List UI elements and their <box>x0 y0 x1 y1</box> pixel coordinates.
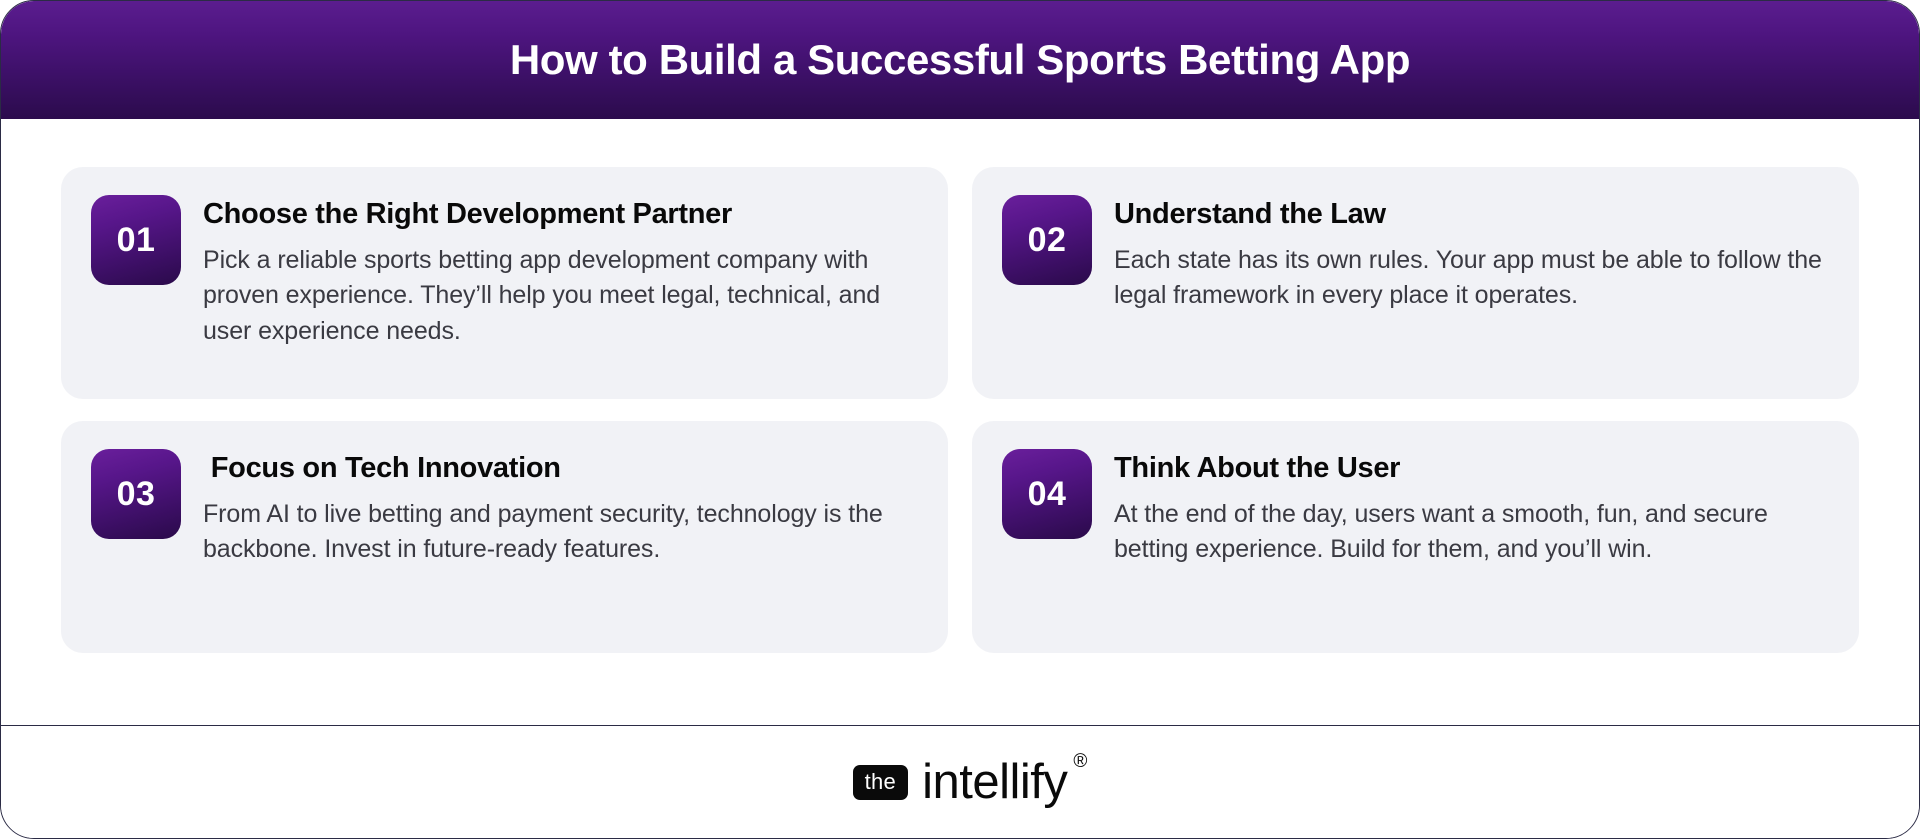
step-number-badge: 03 <box>91 449 181 539</box>
step-card-text: Understand the Law Each state has its ow… <box>1114 195 1829 314</box>
step-card-title: Understand the Law <box>1114 197 1829 232</box>
step-card-description: Pick a reliable sports betting app devel… <box>203 243 918 350</box>
step-number-badge: 02 <box>1002 195 1092 285</box>
step-card-02: 02 Understand the Law Each state has its… <box>972 167 1859 399</box>
step-card-description: Each state has its own rules. Your app m… <box>1114 243 1829 314</box>
logo-the-badge: the <box>853 765 908 800</box>
logo-wordmark: intellify <box>922 755 1067 809</box>
step-card-title: Focus on Tech Innovation <box>203 451 918 486</box>
header-banner: How to Build a Successful Sports Betting… <box>1 1 1919 119</box>
step-card-01: 01 Choose the Right Development Partner … <box>61 167 948 399</box>
step-card-title: Think About the User <box>1114 451 1829 486</box>
step-card-description: At the end of the day, users want a smoo… <box>1114 497 1829 568</box>
step-card-text: Choose the Right Development Partner Pic… <box>203 195 918 349</box>
brand-logo: the intellify ® <box>853 758 1068 807</box>
footer-bar: the intellify ® <box>1 725 1919 838</box>
card-grid: 01 Choose the Right Development Partner … <box>61 167 1859 653</box>
registered-trademark-icon: ® <box>1073 752 1087 771</box>
step-number-badge: 01 <box>91 195 181 285</box>
step-card-03: 03 Focus on Tech Innovation From AI to l… <box>61 421 948 653</box>
step-card-description: From AI to live betting and payment secu… <box>203 497 918 568</box>
logo-wordmark-wrap: intellify ® <box>922 758 1067 807</box>
step-card-04: 04 Think About the User At the end of th… <box>972 421 1859 653</box>
step-number-badge: 04 <box>1002 449 1092 539</box>
step-card-text: Focus on Tech Innovation From AI to live… <box>203 449 918 568</box>
step-card-title: Choose the Right Development Partner <box>203 197 918 232</box>
content-area: 01 Choose the Right Development Partner … <box>1 119 1919 725</box>
page-title: How to Build a Successful Sports Betting… <box>510 37 1410 83</box>
step-card-text: Think About the User At the end of the d… <box>1114 449 1829 568</box>
infographic-root: How to Build a Successful Sports Betting… <box>0 0 1920 839</box>
